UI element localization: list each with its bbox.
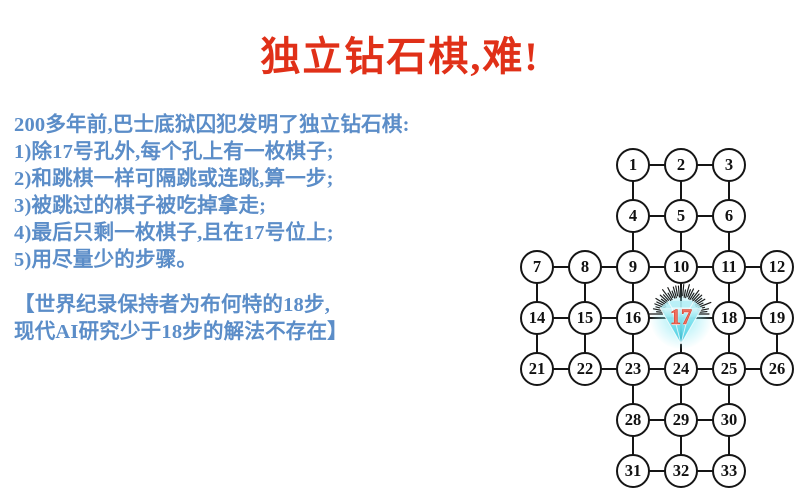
board-hole-10[interactable]: 10 [664, 250, 698, 284]
board-hole-12[interactable]: 12 [760, 250, 794, 284]
board-hole-label: 7 [533, 257, 541, 277]
rule-line-3: 3)被跳过的棋子被吃掉拿走; [14, 193, 524, 220]
board-hole-label: 12 [769, 257, 786, 277]
board-hole-label: 10 [673, 257, 690, 277]
board-hole-label: 2 [677, 155, 685, 175]
board-hole-19[interactable]: 19 [760, 301, 794, 335]
board-hole-15[interactable]: 15 [568, 301, 602, 335]
board-hole-label: 30 [721, 410, 738, 430]
board-hole-label: 26 [769, 359, 786, 379]
board-hole-7[interactable]: 7 [520, 250, 554, 284]
board-hole-4[interactable]: 4 [616, 199, 650, 233]
board-hole-31[interactable]: 31 [616, 454, 650, 488]
record-note-line-1: 【世界纪录保持者为布何特的18步, [14, 292, 524, 319]
board-hole-2[interactable]: 2 [664, 148, 698, 182]
board-hole-label: 33 [721, 461, 738, 481]
board-hole-label: 19 [769, 308, 786, 328]
text-spacer [14, 274, 524, 292]
board-hole-9[interactable]: 9 [616, 250, 650, 284]
board-hole-label: 6 [725, 206, 733, 226]
board-hole-29[interactable]: 29 [664, 403, 698, 437]
poster-page: 独立钻石棋,难! 200多年前,巴士底狱囚犯发明了独立钻石棋: 1)除17号孔外… [0, 0, 800, 500]
board-hole-3[interactable]: 3 [712, 148, 746, 182]
board-hole-label: 21 [529, 359, 546, 379]
target-hole-label: 17 [659, 304, 703, 330]
board-hole-label: 22 [577, 359, 594, 379]
board-hole-28[interactable]: 28 [616, 403, 650, 437]
board-hole-25[interactable]: 25 [712, 352, 746, 386]
board-hole-33[interactable]: 33 [712, 454, 746, 488]
board-hole-label: 1 [629, 155, 637, 175]
board-hole-label: 24 [673, 359, 690, 379]
board-hole-8[interactable]: 8 [568, 250, 602, 284]
board-hole-30[interactable]: 30 [712, 403, 746, 437]
board-hole-label: 15 [577, 308, 594, 328]
record-note-line-2: 现代AI研究少于18步的解法不存在】 [14, 319, 524, 346]
rule-line-4: 4)最后只剩一枚棋子,且在17号位上; [14, 220, 524, 247]
rules-text-block: 200多年前,巴士底狱囚犯发明了独立钻石棋: 1)除17号孔外,每个孔上有一枚棋… [14, 112, 524, 346]
page-title: 独立钻石棋,难! [0, 24, 800, 82]
board-hole-14[interactable]: 14 [520, 301, 554, 335]
board-hole-1[interactable]: 1 [616, 148, 650, 182]
board-hole-32[interactable]: 32 [664, 454, 698, 488]
board-hole-24[interactable]: 24 [664, 352, 698, 386]
board-hole-6[interactable]: 6 [712, 199, 746, 233]
board-hole-label: 23 [625, 359, 642, 379]
board-hole-26[interactable]: 26 [760, 352, 794, 386]
board-hole-21[interactable]: 21 [520, 352, 554, 386]
board-hole-label: 11 [721, 257, 737, 277]
board-hole-label: 16 [625, 308, 642, 328]
rule-line-1: 1)除17号孔外,每个孔上有一枚棋子; [14, 139, 524, 166]
board-hole-label: 32 [673, 461, 690, 481]
rule-line-2: 2)和跳棋一样可隔跳或连跳,算一步; [14, 166, 524, 193]
board-hole-23[interactable]: 23 [616, 352, 650, 386]
record-note: 【世界纪录保持者为布何特的18步, 现代AI研究少于18步的解法不存在】 [14, 292, 524, 346]
board-hole-22[interactable]: 22 [568, 352, 602, 386]
board-hole-label: 31 [625, 461, 642, 481]
board-hole-5[interactable]: 5 [664, 199, 698, 233]
board-hole-label: 8 [581, 257, 589, 277]
target-hole-diamond[interactable]: 17 [641, 282, 721, 354]
board-hole-label: 4 [629, 206, 637, 226]
board-hole-label: 3 [725, 155, 733, 175]
board-hole-11[interactable]: 11 [712, 250, 746, 284]
intro-line: 200多年前,巴士底狱囚犯发明了独立钻石棋: [14, 112, 524, 139]
board-hole-label: 5 [677, 206, 685, 226]
board-hole-label: 14 [529, 308, 546, 328]
board-hole-label: 25 [721, 359, 738, 379]
rule-line-5: 5)用尽量少的步骤。 [14, 247, 524, 274]
board-hole-label: 18 [721, 308, 738, 328]
board-hole-label: 9 [629, 257, 637, 277]
board-hole-label: 29 [673, 410, 690, 430]
board-hole-label: 28 [625, 410, 642, 430]
